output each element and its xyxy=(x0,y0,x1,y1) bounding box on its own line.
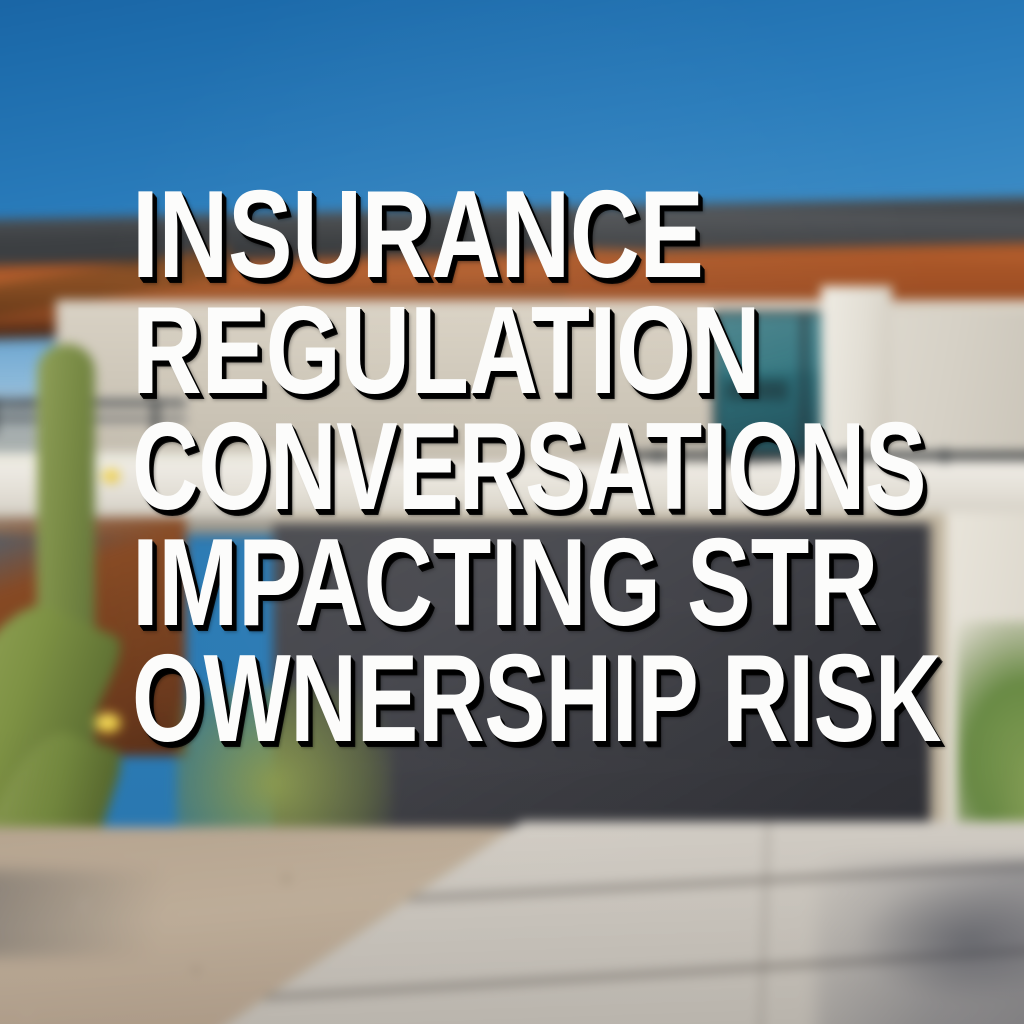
driveway-score-line xyxy=(758,821,770,1024)
driveway-shadow xyxy=(816,859,1024,1024)
cactus-bloom xyxy=(95,713,121,733)
left-ground-shadow xyxy=(0,870,208,957)
poster-canvas: INSURANCE REGULATION CONVERSATIONS IMPAC… xyxy=(0,0,1024,1024)
headline-line-4: IMPACTING STR xyxy=(132,526,752,640)
headline-line-3: CONVERSATIONS xyxy=(132,410,728,524)
headline-line-2: REGULATION xyxy=(132,294,756,408)
headline-block: INSURANCE REGULATION CONVERSATIONS IMPAC… xyxy=(132,178,932,758)
headline-line-1: INSURANCE xyxy=(132,178,756,292)
headline-line-5: OWNERSHIP RISK xyxy=(132,642,728,756)
cactus-bloom xyxy=(102,469,120,483)
